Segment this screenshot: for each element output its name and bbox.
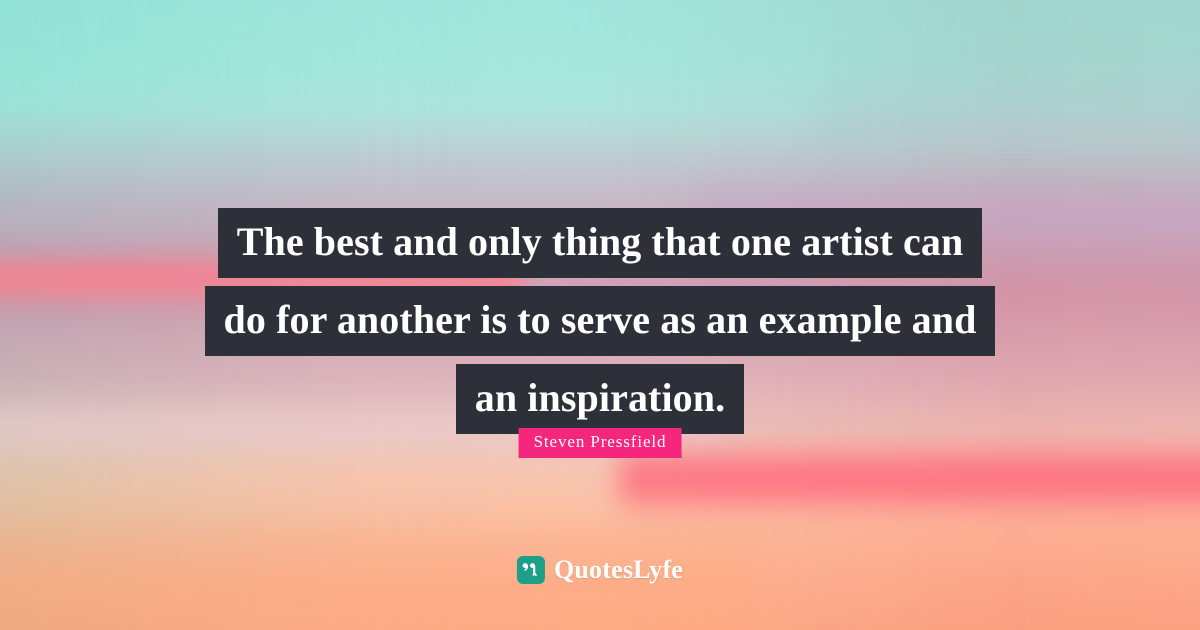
- quote-text-block: The best and only thing that one artist …: [0, 208, 1200, 442]
- quote-line-2: do for another is to serve as an example…: [205, 286, 996, 356]
- quote-line-3: an inspiration.: [456, 364, 744, 434]
- brand-name: QuotesLyfe: [554, 557, 683, 583]
- quote-line-1: The best and only thing that one artist …: [218, 208, 983, 278]
- author-badge: Steven Pressfield: [519, 428, 682, 458]
- quotation-mark-icon: [517, 556, 545, 584]
- quote-card: The best and only thing that one artist …: [0, 0, 1200, 630]
- brand-logo[interactable]: QuotesLyfe: [517, 556, 683, 584]
